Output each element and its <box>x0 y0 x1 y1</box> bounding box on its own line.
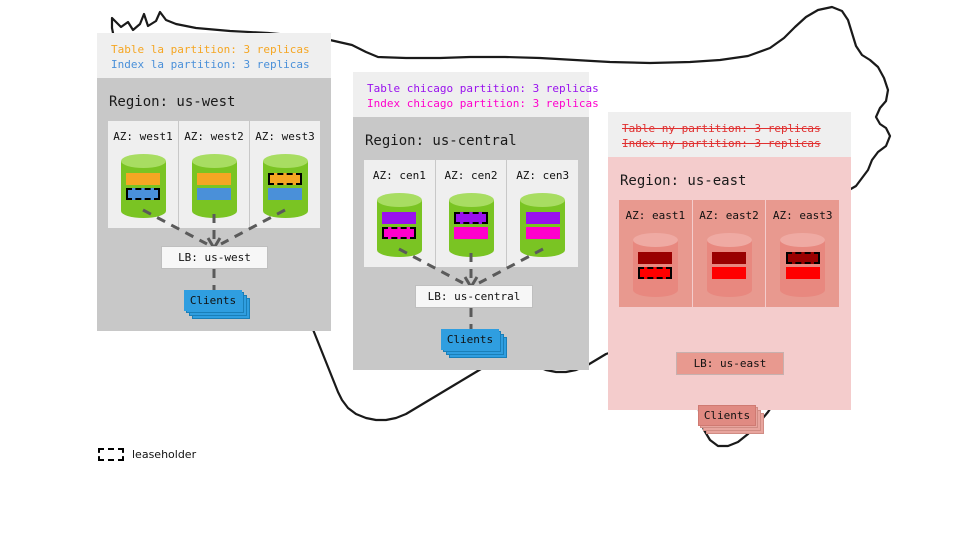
region-box-us-east: Region: us-east AZ: east1 AZ: east2 <box>608 157 851 410</box>
clients-box-us-central[interactable]: Clients <box>441 329 499 350</box>
connector-west1-lb <box>143 210 207 244</box>
lb-box-us-central[interactable]: LB: us-central <box>415 285 533 308</box>
partition-header-us-west: Table la partition: 3 replicas Index la … <box>97 33 331 78</box>
band-table-east1[interactable] <box>638 252 672 264</box>
band-table-east3-leaseholder[interactable] <box>786 252 820 264</box>
cylinder-east2[interactable] <box>707 233 752 297</box>
partition-line-table: Table chicago partition: 3 replicas <box>367 81 577 96</box>
region-us-east: Table ny partition: 3 replicas Index ny … <box>608 112 851 410</box>
partition-line-table: Table ny partition: 3 replicas <box>622 121 839 136</box>
dashed-box-icon <box>98 448 124 461</box>
partition-header-us-east: Table ny partition: 3 replicas Index ny … <box>608 112 851 157</box>
cylinder-body <box>633 240 678 290</box>
region-us-west: Table la partition: 3 replicas Index la … <box>97 33 331 331</box>
az-cell-east1[interactable]: AZ: east1 <box>619 200 693 307</box>
legend-label: leaseholder <box>132 448 196 461</box>
connector-west3-lb <box>221 210 285 244</box>
az-label-east1: AZ: east1 <box>626 209 686 222</box>
clients-stack-us-east[interactable]: Clients <box>698 405 768 435</box>
az-cell-east2[interactable]: AZ: east2 <box>693 200 767 307</box>
partition-line-table: Table la partition: 3 replicas <box>111 42 319 57</box>
lb-label-us-west: LB: us-west <box>178 251 251 264</box>
clients-stack-us-west[interactable]: Clients <box>184 290 254 320</box>
az-label-east2: AZ: east2 <box>699 209 759 222</box>
cylinder-east1[interactable] <box>633 233 678 297</box>
clients-label-us-east: Clients <box>704 409 750 422</box>
cylinder-top <box>780 233 825 247</box>
az-cell-east3[interactable]: AZ: east3 <box>766 200 839 307</box>
az-label-east3: AZ: east3 <box>773 209 833 222</box>
lb-label-us-central: LB: us-central <box>428 290 521 303</box>
clients-box-us-west[interactable]: Clients <box>184 290 242 311</box>
partition-header-us-central: Table chicago partition: 3 replicas Inde… <box>353 72 589 117</box>
lb-label-us-east: LB: us-east <box>694 357 767 370</box>
cylinder-top <box>633 233 678 247</box>
partition-line-index: Index chicago partition: 3 replicas <box>367 96 577 111</box>
lb-box-us-west[interactable]: LB: us-west <box>161 246 268 269</box>
lb-box-us-east[interactable]: LB: us-east <box>676 352 784 375</box>
connector-cen1-lb <box>399 249 463 283</box>
region-box-us-central: Region: us-central AZ: cen1 AZ: cen2 <box>353 117 589 370</box>
region-title-us-east: Region: us-east <box>620 173 746 189</box>
clients-box-us-east[interactable]: Clients <box>698 405 756 426</box>
clients-label-us-central: Clients <box>447 333 493 346</box>
band-table-east2[interactable] <box>712 252 746 264</box>
partition-line-index: Index la partition: 3 replicas <box>111 57 319 72</box>
cylinder-top <box>707 233 752 247</box>
band-index-east1-leaseholder[interactable] <box>638 267 672 279</box>
clients-stack-us-central[interactable]: Clients <box>441 329 511 359</box>
cylinder-body <box>707 240 752 290</box>
connector-cen3-lb <box>479 249 543 283</box>
band-index-east3[interactable] <box>786 267 820 279</box>
region-box-us-west: Region: us-west AZ: west1 AZ: west2 <box>97 78 331 331</box>
az-strip-us-east: AZ: east1 AZ: east2 <box>619 200 839 307</box>
band-index-east2[interactable] <box>712 267 746 279</box>
clients-label-us-west: Clients <box>190 294 236 307</box>
region-us-central: Table chicago partition: 3 replicas Inde… <box>353 72 589 370</box>
partition-line-index: Index ny partition: 3 replicas <box>622 136 839 151</box>
diagram-canvas: Table la partition: 3 replicas Index la … <box>0 0 960 540</box>
cylinder-east3[interactable] <box>780 233 825 297</box>
legend-leaseholder: leaseholder <box>98 448 196 461</box>
cylinder-body <box>780 240 825 290</box>
